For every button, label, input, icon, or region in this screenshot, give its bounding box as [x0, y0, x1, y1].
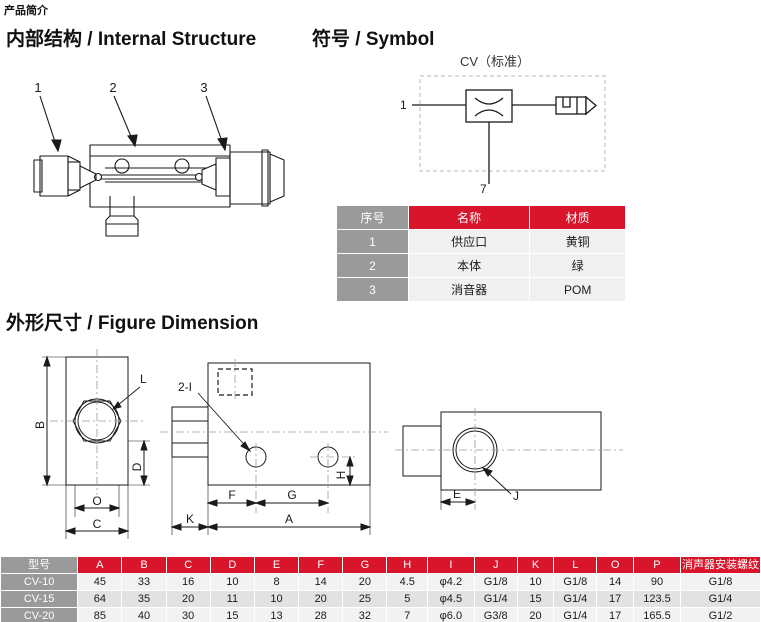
dim-cell-D: 10 — [210, 574, 254, 591]
table-row: 1 供应口 黄铜 — [337, 230, 626, 254]
section-title-internal-structure: 内部结构 / Internal Structure — [6, 24, 256, 51]
dim-cell-E: 13 — [254, 608, 298, 622]
symbol-port-1-label: 1 — [400, 98, 407, 112]
dim-cell-H: 4.5 — [387, 574, 428, 591]
dim-header-D: D — [210, 557, 254, 574]
dim-cell-O: 17 — [597, 608, 634, 622]
dim-cell-B: 35 — [122, 591, 166, 608]
dim-cell-F: 20 — [299, 591, 343, 608]
dim-label-K: K — [186, 512, 194, 526]
parts-cell-name: 供应口 — [409, 230, 530, 254]
dim-header-C: C — [166, 557, 210, 574]
dim-header-silencer-thread: 消声器安装螺纹 — [681, 557, 761, 574]
breadcrumb: 产品简介 — [4, 2, 48, 18]
dim-cell-model: CV-10 — [1, 574, 78, 591]
dim-label-E: E — [453, 487, 461, 501]
table-row: 3 消音器 POM — [337, 278, 626, 302]
dim-header-I: I — [428, 557, 475, 574]
callout-3: 3 — [200, 80, 207, 95]
parts-cell-material: POM — [530, 278, 626, 302]
product-spec-sheet: 产品简介 内部结构 / Internal Structure — [0, 0, 761, 622]
dim-label-O: O — [92, 494, 101, 508]
dim-cell-E: 10 — [254, 591, 298, 608]
table-row: CV-10 45 33 16 10 8 14 20 4.5 φ4.2 G1/8 … — [1, 574, 761, 591]
dim-cell-H: 7 — [387, 608, 428, 622]
dim-cell-P: 90 — [633, 574, 680, 591]
dim-cell-J: G3/8 — [474, 608, 517, 622]
dim-cell-L: G1/4 — [554, 608, 597, 622]
dim-cell-L: G1/4 — [554, 591, 597, 608]
dimension-view-side: 2-I F G H K A — [160, 345, 390, 545]
dim-cell-J: G1/8 — [474, 574, 517, 591]
dim-cell-P: 165.5 — [633, 608, 680, 622]
parts-cell-name: 本体 — [409, 254, 530, 278]
dim-label-2I: 2-I — [178, 380, 192, 394]
symbol-port-7-label: 7 — [480, 182, 487, 195]
dim-cell-C: 16 — [166, 574, 210, 591]
dim-header-B: B — [122, 557, 166, 574]
table-row: CV-20 85 40 30 15 13 28 32 7 φ6.0 G3/8 2… — [1, 608, 761, 622]
dim-cell-K: 20 — [517, 608, 554, 622]
dimension-table: 型号 A B C D E F G H I J K L O P 消声器安装螺纹 C… — [0, 556, 761, 622]
dim-header-A: A — [78, 557, 122, 574]
dim-cell-G: 25 — [343, 591, 387, 608]
parts-header-material: 材质 — [530, 206, 626, 230]
dim-label-F: F — [228, 488, 235, 502]
dim-label-C: C — [93, 517, 102, 531]
dim-cell-O: 14 — [597, 574, 634, 591]
dimension-view-front: B L D O C — [14, 345, 174, 545]
parts-cell-no: 3 — [337, 278, 409, 302]
dim-cell-K: 15 — [517, 591, 554, 608]
dim-header-model: 型号 — [1, 557, 78, 574]
dim-header-J: J — [474, 557, 517, 574]
parts-table-header-row: 序号 名称 材质 — [337, 206, 626, 230]
dim-cell-A: 85 — [78, 608, 122, 622]
dim-cell-J: G1/4 — [474, 591, 517, 608]
dim-label-D: D — [130, 462, 144, 471]
dim-header-E: E — [254, 557, 298, 574]
dim-header-K: K — [517, 557, 554, 574]
symbol-diagram: CV（标准） 1 — [400, 50, 630, 195]
dim-cell-I: φ6.0 — [428, 608, 475, 622]
dim-cell-A: 64 — [78, 591, 122, 608]
dim-cell-C: 30 — [166, 608, 210, 622]
dim-header-G: G — [343, 557, 387, 574]
dim-header-P: P — [633, 557, 680, 574]
dim-header-H: H — [387, 557, 428, 574]
dim-cell-silencer-thread: G1/8 — [681, 574, 761, 591]
parts-header-name: 名称 — [409, 206, 530, 230]
symbol-caption: CV（标准） — [460, 54, 530, 69]
dim-label-B: B — [33, 421, 47, 429]
table-row: CV-15 64 35 20 11 10 20 25 5 φ4.5 G1/4 1… — [1, 591, 761, 608]
dim-cell-B: 40 — [122, 608, 166, 622]
parts-table: 序号 名称 材质 1 供应口 黄铜 2 本体 绿 3 消音器 POM — [336, 205, 626, 302]
dim-header-F: F — [299, 557, 343, 574]
dim-label-G: G — [287, 488, 296, 502]
dim-cell-L: G1/8 — [554, 574, 597, 591]
dim-cell-P: 123.5 — [633, 591, 680, 608]
dim-cell-model: CV-20 — [1, 608, 78, 622]
dim-cell-H: 5 — [387, 591, 428, 608]
dim-cell-F: 28 — [299, 608, 343, 622]
dim-cell-silencer-thread: G1/2 — [681, 608, 761, 622]
dim-cell-I: φ4.5 — [428, 591, 475, 608]
callout-1: 1 — [34, 80, 41, 95]
dim-label-A: A — [285, 512, 293, 526]
dim-cell-E: 8 — [254, 574, 298, 591]
internal-structure-drawing: 1 2 3 — [10, 78, 310, 238]
dim-label-H: H — [334, 471, 348, 480]
parts-cell-no: 1 — [337, 230, 409, 254]
dimension-table-header-row: 型号 A B C D E F G H I J K L O P 消声器安装螺纹 — [1, 557, 761, 574]
dim-header-L: L — [554, 557, 597, 574]
dim-cell-B: 33 — [122, 574, 166, 591]
callout-2: 2 — [109, 80, 116, 95]
parts-cell-no: 2 — [337, 254, 409, 278]
table-row: 2 本体 绿 — [337, 254, 626, 278]
dim-header-O: O — [597, 557, 634, 574]
dim-cell-C: 20 — [166, 591, 210, 608]
dim-cell-I: φ4.2 — [428, 574, 475, 591]
dim-cell-silencer-thread: G1/4 — [681, 591, 761, 608]
dimension-view-top: E J — [395, 398, 625, 518]
dim-cell-O: 17 — [597, 591, 634, 608]
dim-cell-K: 10 — [517, 574, 554, 591]
parts-header-no: 序号 — [337, 206, 409, 230]
dim-label-L: L — [140, 372, 147, 386]
parts-cell-name: 消音器 — [409, 278, 530, 302]
dim-label-J: J — [513, 489, 519, 503]
dim-cell-D: 11 — [210, 591, 254, 608]
parts-cell-material: 绿 — [530, 254, 626, 278]
section-title-symbol: 符号 / Symbol — [312, 24, 434, 51]
dim-cell-model: CV-15 — [1, 591, 78, 608]
section-title-figure-dimension: 外形尺寸 / Figure Dimension — [6, 308, 258, 335]
dim-cell-G: 32 — [343, 608, 387, 622]
dim-cell-A: 45 — [78, 574, 122, 591]
dim-cell-D: 15 — [210, 608, 254, 622]
parts-cell-material: 黄铜 — [530, 230, 626, 254]
dim-cell-F: 14 — [299, 574, 343, 591]
dim-cell-G: 20 — [343, 574, 387, 591]
